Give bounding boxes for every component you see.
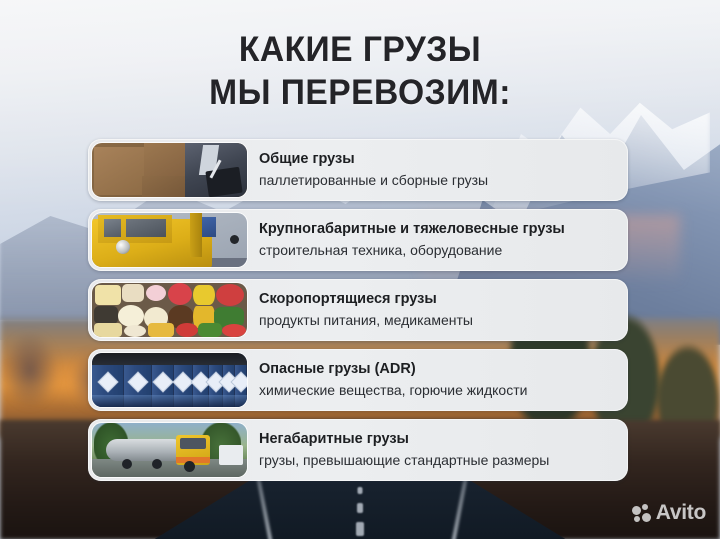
page-title: КАКИЕ ГРУЗЫ МЫ ПЕРЕВОЗИМ: <box>0 28 720 115</box>
list-item-subtitle: грузы, превышающие стандартные размеры <box>259 451 624 469</box>
list-item-subtitle: химические вещества, горючие жидкости <box>259 381 624 399</box>
list-item-subtitle: строительная техника, оборудование <box>259 241 624 259</box>
heavy-machinery-photo-icon <box>92 213 247 267</box>
promo-banner: КАКИЕ ГРУЗЫ МЫ ПЕРЕВОЗИМ: Общие грузы па… <box>0 0 720 539</box>
list-item-subtitle: паллетированные и сборные грузы <box>259 171 624 189</box>
list-item-title: Опасные грузы (ADR) <box>259 361 624 378</box>
list-item[interactable]: Негабаритные грузы грузы, превышающие ст… <box>88 419 628 481</box>
avito-brand-text: Avito <box>656 501 706 525</box>
list-item-text: Общие грузы паллетированные и сборные гр… <box>247 151 624 189</box>
list-item-title: Общие грузы <box>259 151 624 168</box>
cargo-type-list: Общие грузы паллетированные и сборные гр… <box>88 139 628 489</box>
list-item[interactable]: Скоропортящиеся грузы продукты питания, … <box>88 279 628 341</box>
list-item-title: Негабаритные грузы <box>259 431 624 448</box>
list-item-text: Негабаритные грузы грузы, превышающие ст… <box>247 431 624 469</box>
fresh-food-photo-icon <box>92 283 247 337</box>
list-item-title: Крупногабаритные и тяжеловесные грузы <box>259 221 624 238</box>
list-item-text: Крупногабаритные и тяжеловесные грузы ст… <box>247 221 624 259</box>
list-item[interactable]: Опасные грузы (ADR) химические вещества,… <box>88 349 628 411</box>
cardboard-boxes-photo-icon <box>92 143 247 197</box>
list-item-subtitle: продукты питания, медикаменты <box>259 311 624 329</box>
oversized-load-truck-photo-icon <box>92 423 247 477</box>
list-item[interactable]: Общие грузы паллетированные и сборные гр… <box>88 139 628 201</box>
avito-dots-logo-icon <box>632 504 651 523</box>
list-item-title: Скоропортящиеся грузы <box>259 291 624 308</box>
avito-watermark: Avito <box>632 501 706 525</box>
heading-line-2: МЫ ПЕРЕВОЗИМ: <box>14 71 705 114</box>
list-item-text: Опасные грузы (ADR) химические вещества,… <box>247 361 624 399</box>
list-item-text: Скоропортящиеся грузы продукты питания, … <box>247 291 624 329</box>
heading-line-1: КАКИЕ ГРУЗЫ <box>14 28 705 71</box>
list-item[interactable]: Крупногабаритные и тяжеловесные грузы ст… <box>88 209 628 271</box>
chemical-drums-photo-icon <box>92 353 247 407</box>
